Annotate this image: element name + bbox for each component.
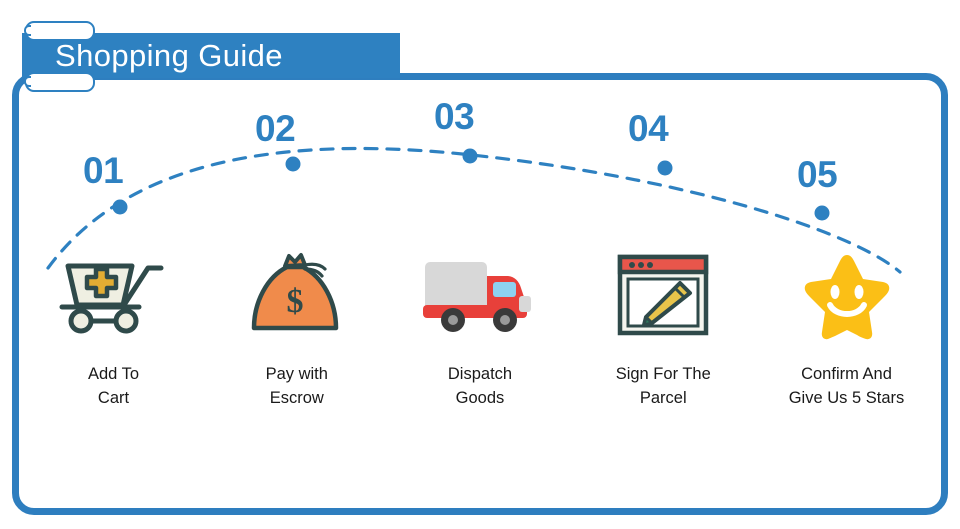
header-banner: Shopping Guide: [0, 0, 430, 100]
step-label-3: Dispatch Goods: [448, 363, 512, 411]
steps-row: Add To Cart $ Pay with Escrow: [22, 245, 938, 425]
step-item-dispatch-goods[interactable]: Dispatch Goods: [389, 245, 572, 411]
step-item-pay-with-escrow[interactable]: $ Pay with Escrow: [205, 245, 388, 411]
shopping-guide-infographic: Shopping Guide 01 02 03 04 05: [0, 0, 960, 529]
money-bag-icon: $: [237, 245, 357, 345]
ribbon-knob-bottom-icon: [24, 76, 31, 87]
shopping-cart-icon: [54, 245, 174, 345]
step-number-3: 03: [434, 98, 474, 135]
step-item-sign-for-the-parcel[interactable]: Sign For The Parcel: [572, 245, 755, 411]
svg-text:$: $: [286, 283, 303, 320]
browser-pencil-icon: [608, 245, 718, 345]
page-title: Shopping Guide: [55, 33, 283, 78]
step-number-5: 05: [797, 156, 837, 193]
step-number-2: 02: [255, 110, 295, 147]
smiling-star-icon: [792, 245, 902, 345]
step-number-1: 01: [83, 152, 123, 189]
step-number-4: 04: [628, 110, 668, 147]
step-label-4: Sign For The Parcel: [616, 363, 711, 411]
step-label-2: Pay with Escrow: [266, 363, 328, 411]
step-item-add-to-cart[interactable]: Add To Cart: [22, 245, 205, 411]
step-label-5: Confirm And Give Us 5 Stars: [789, 363, 905, 411]
step-label-1: Add To Cart: [88, 363, 139, 411]
delivery-truck-icon: [415, 245, 545, 345]
ribbon-knob-top-icon: [24, 25, 31, 36]
step-item-confirm-and-rate[interactable]: Confirm And Give Us 5 Stars: [755, 245, 938, 411]
